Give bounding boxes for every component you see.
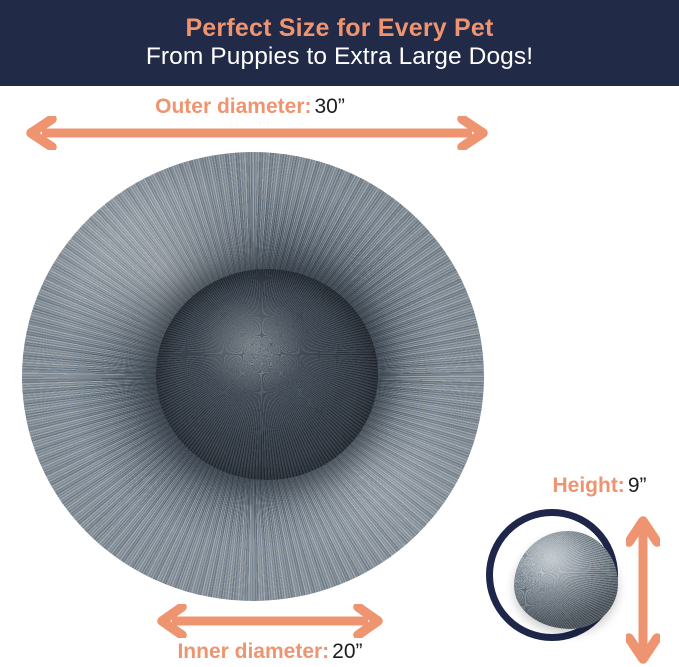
inner-diameter-arrow-icon <box>156 604 384 638</box>
bed-inner-well <box>156 269 378 480</box>
pet-bed-top-view <box>22 152 484 601</box>
header-subheadline: From Puppies to Extra Large Dogs! <box>146 43 533 72</box>
outer-diameter-arrow-icon <box>24 116 490 150</box>
header-headline: Perfect Size for Every Pet <box>185 14 493 42</box>
height-arrow-icon <box>626 514 660 666</box>
height-label: Height:9” <box>520 475 679 496</box>
inner-diameter-term: Inner diameter: <box>177 640 329 663</box>
side-shading <box>514 531 618 629</box>
inner-well-shading <box>156 269 378 480</box>
infographic-page: Perfect Size for Every Pet From Puppies … <box>0 0 679 667</box>
outer-diameter-label: Outer diameter:30” <box>0 96 500 117</box>
height-term: Height: <box>552 474 624 497</box>
bed-outer-bolster <box>22 152 484 601</box>
inner-diameter-label: Inner diameter:20” <box>120 641 420 662</box>
inner-diameter-value: 20” <box>332 640 362 663</box>
header-banner: Perfect Size for Every Pet From Puppies … <box>0 0 679 86</box>
bed-side-profile <box>514 531 618 629</box>
outer-diameter-value: 30” <box>315 95 345 118</box>
height-value: 9” <box>628 474 647 497</box>
pet-bed-side-view-inset <box>484 505 628 657</box>
outer-diameter-term: Outer diameter: <box>155 95 311 118</box>
